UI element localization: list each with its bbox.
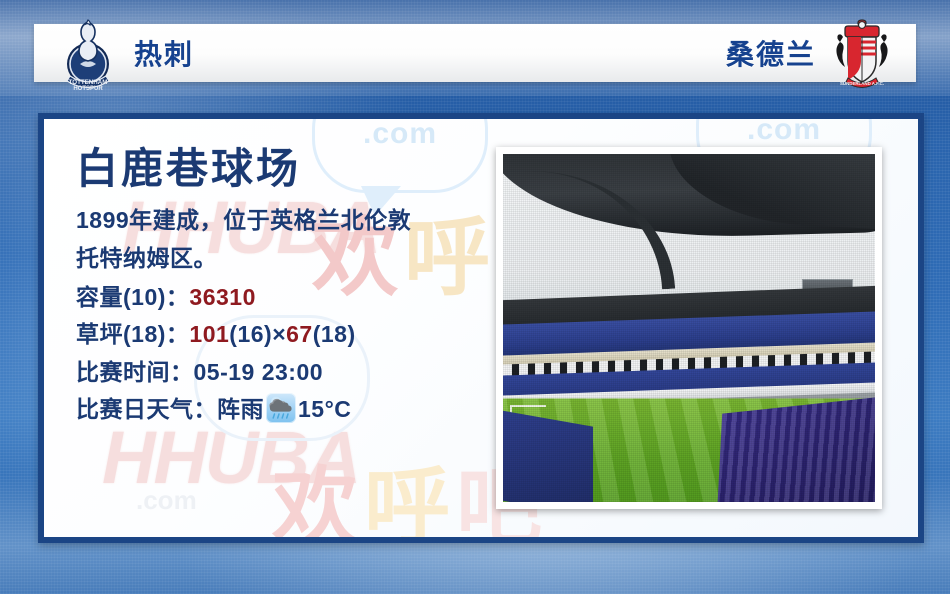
capacity-row: 容量(10)：36310 bbox=[76, 279, 506, 316]
stadium-photo-frame[interactable] bbox=[496, 147, 882, 509]
stadium-info-column: 白鹿巷球场 1899年建成，位于英格兰北伦敦 托特纳姆区。 容量(10)：363… bbox=[76, 147, 506, 428]
svg-text:SUNDERLAND A.F.C.: SUNDERLAND A.F.C. bbox=[840, 81, 884, 86]
stadium-photo bbox=[503, 154, 875, 502]
svg-text:HOTSPUR: HOTSPUR bbox=[73, 86, 103, 92]
watermark-bubble-text: .com bbox=[363, 117, 437, 151]
pitch-width-note: (18) bbox=[313, 321, 356, 347]
stadium-info-panel: .com .com HHUBA HHUBA .com 欢呼吧 欢呼吧 白鹿巷球场… bbox=[38, 113, 924, 543]
away-team-name: 桑德兰 bbox=[726, 33, 816, 73]
capacity-value: 36310 bbox=[189, 284, 255, 310]
stadium-description-line-1: 1899年建成，位于英格兰北伦敦 bbox=[76, 203, 496, 237]
stadium-description-line-2: 托特纳姆区。 bbox=[76, 241, 496, 275]
stadium-name: 白鹿巷球场 bbox=[76, 147, 506, 191]
weather-row: 比赛日天气：阵雨 15°C bbox=[76, 391, 506, 428]
weather-label: 比赛日天气： bbox=[76, 396, 217, 422]
rain-shower-icon bbox=[266, 393, 296, 423]
watermark-dotcom: .com bbox=[136, 485, 197, 516]
capacity-label: 容量(10)： bbox=[76, 284, 189, 310]
pitch-length-value: 101 bbox=[189, 321, 229, 347]
svg-text:TOTTENHAM: TOTTENHAM bbox=[69, 79, 108, 86]
away-team[interactable]: 桑德兰 SUNDERLAND A.F.C. bbox=[726, 16, 894, 90]
match-header-bar: TOTTENHAM HOTSPUR 热刺 桑德兰 bbox=[34, 24, 916, 82]
watermark-bubble-text-2: .com bbox=[747, 113, 821, 147]
weather-temperature: 15°C bbox=[298, 396, 351, 422]
photo-grain-overlay bbox=[503, 154, 875, 502]
weather-condition: 阵雨 bbox=[217, 396, 264, 422]
sunderland-afc-crest-icon: SUNDERLAND A.F.C. bbox=[830, 16, 894, 90]
pitch-label: 草坪(18)： bbox=[76, 321, 189, 347]
tottenham-hotspur-crest-icon: TOTTENHAM HOTSPUR bbox=[56, 16, 120, 90]
watermark-brand-latin-text-2: HHUBA bbox=[102, 416, 359, 499]
pitch-length-note: (16) bbox=[229, 321, 272, 347]
match-time-label: 比赛时间： bbox=[76, 359, 194, 385]
match-info-card: TOTTENHAM HOTSPUR 热刺 桑德兰 bbox=[0, 0, 950, 594]
pitch-width-value: 67 bbox=[286, 321, 313, 347]
watermark-dotcom-text: .com bbox=[136, 485, 197, 515]
pitch-row: 草坪(18)：101(16)×67(18) bbox=[76, 316, 506, 353]
match-time-value: 05-19 23:00 bbox=[194, 359, 324, 385]
home-team-name: 热刺 bbox=[134, 33, 194, 73]
pitch-separator: × bbox=[272, 321, 286, 347]
watermark-cn2-char-2: 呼 bbox=[364, 460, 456, 543]
home-team[interactable]: TOTTENHAM HOTSPUR 热刺 bbox=[56, 16, 194, 90]
watermark-cn2-char-1: 欢 bbox=[272, 460, 364, 543]
match-time-row: 比赛时间：05-19 23:00 bbox=[76, 354, 506, 391]
